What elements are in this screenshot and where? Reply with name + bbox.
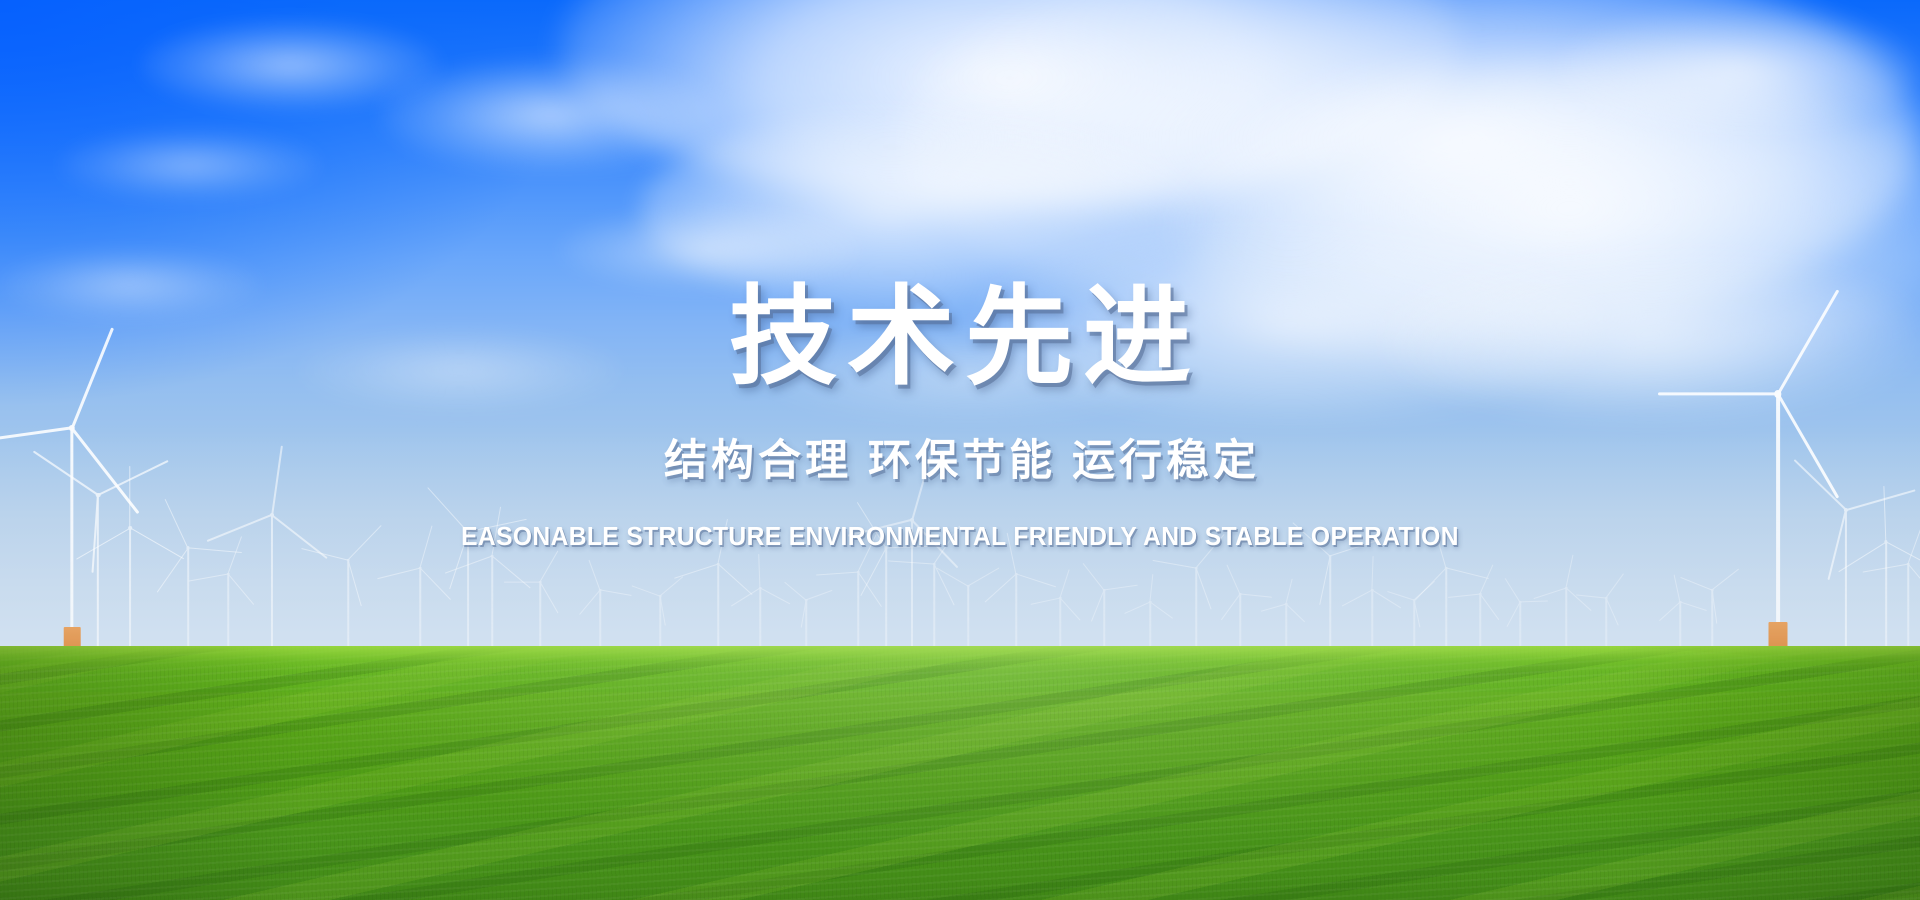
banner-copy: 技术先进 结构合理 环保节能 运行稳定 EASONABLE STRUCTURE … xyxy=(0,0,1920,900)
banner-headline: 技术先进 xyxy=(0,283,1920,391)
hero-banner: 技术先进 结构合理 环保节能 运行稳定 EASONABLE STRUCTURE … xyxy=(0,0,1920,900)
banner-subheadline: 结构合理 环保节能 运行稳定 xyxy=(0,440,1920,483)
banner-tagline-english: EASONABLE STRUCTURE ENVIRONMENTAL FRIEND… xyxy=(34,525,1887,551)
